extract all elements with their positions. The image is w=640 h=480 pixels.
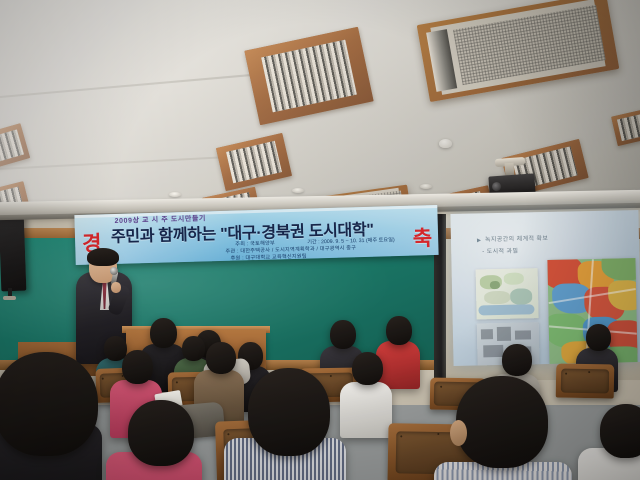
slide-bullet-marker [477,238,481,242]
projector-lens [492,182,502,192]
microphone-head [110,267,118,275]
wall-speaker [0,212,26,292]
seminar-room-photo: 녹지공간의 체계적 확보 - 도시적 과밀 [0,0,640,480]
event-banner: 경 축 2009상 교 시 주 도시만들기 주민과 함께하는 "대구·경북권 도… [74,205,438,265]
presenter-hair [87,248,119,266]
presenter-hand [111,282,121,293]
slide-site-plan-image [476,268,539,319]
auditorium-seat [556,363,615,398]
ceiling-shading [0,0,640,205]
projection-screen: 녹지공간의 체계적 확보 - 도시적 과밀 [450,210,640,366]
slide-bullet-2: - 도시적 과밀 [482,246,518,256]
wall-speaker-base [3,296,16,300]
banner-red-char-right: 축 [412,222,432,253]
slide-bullet-1: 녹지공간의 체계적 확보 [485,233,549,243]
